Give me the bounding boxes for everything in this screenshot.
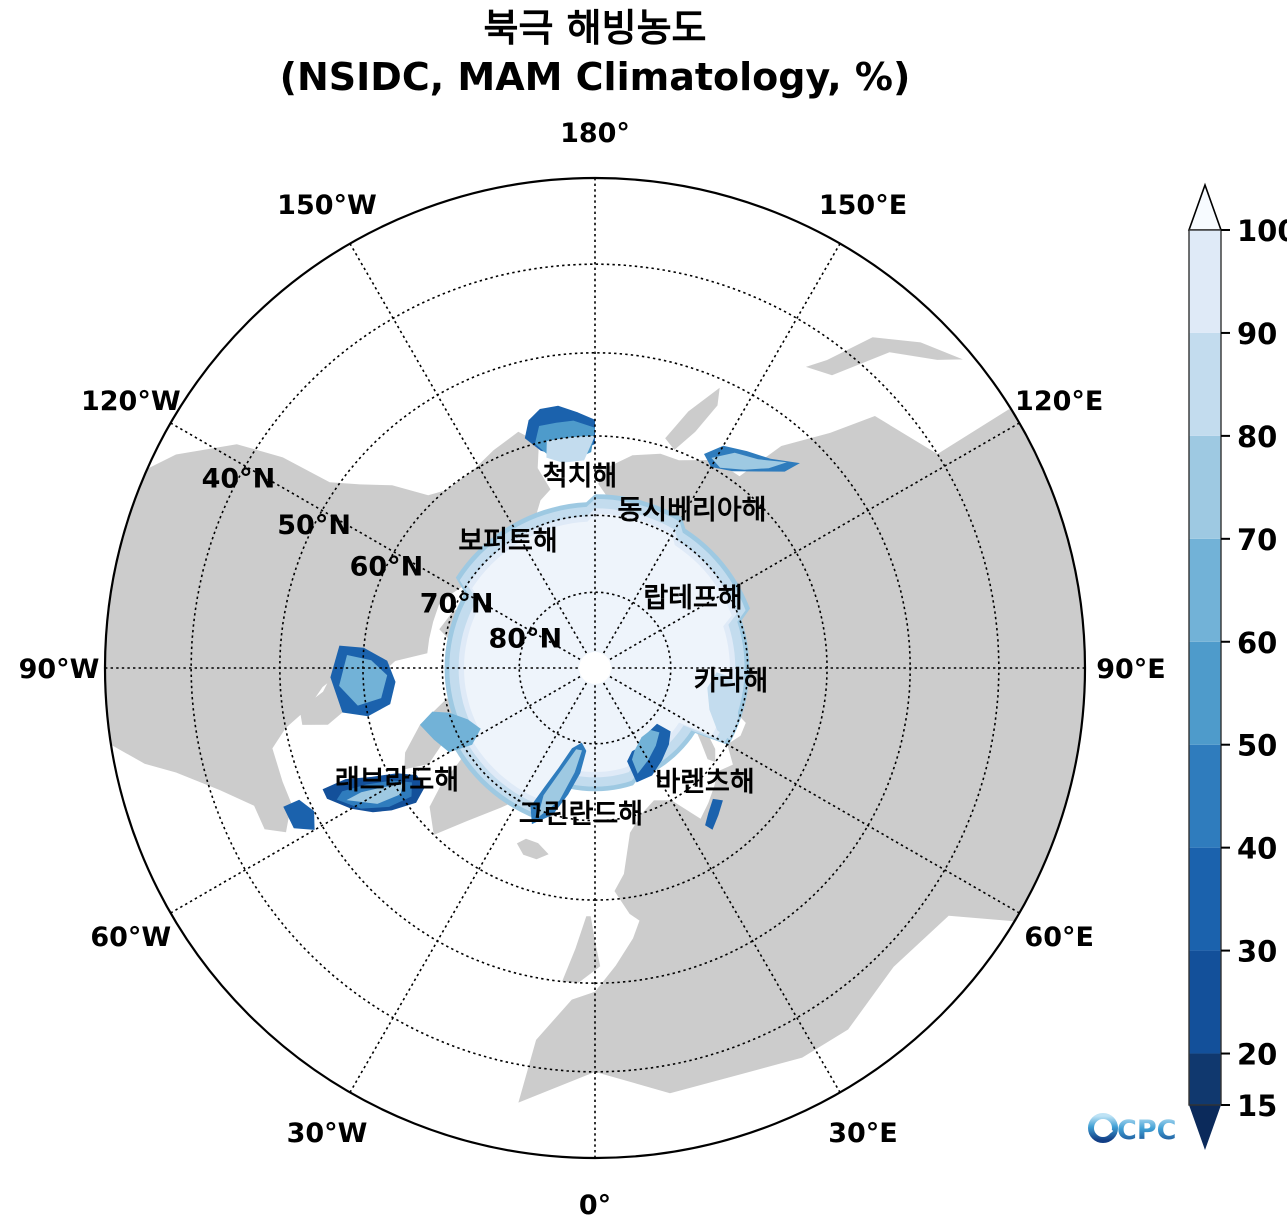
title-line-1: 북극 해빙농도 [0,4,1190,52]
colorbar-tick-label: 70 [1237,523,1277,557]
colorbar-tick-label: 40 [1237,832,1277,866]
latitude-label: 60°N [350,551,424,582]
colorbar-ticks: 152030405060708090100 [1221,214,1287,1123]
longitude-label: 90°E [1096,654,1166,685]
sea-label: 랍테프해 [643,583,742,614]
colorbar-tick-label: 90 [1237,317,1277,351]
longitude-label: 180° [560,118,630,149]
colorbar-tick-label: 30 [1237,935,1277,969]
latitude-label: 80°N [488,623,562,654]
longitude-label: 120°E [1015,386,1103,417]
colorbar-tick-label: 80 [1237,420,1277,454]
map-svg: 180°150°W120°W90°W60°W30°W0°30°E60°E90°E… [0,110,1190,1216]
colorbar-band [1189,642,1221,745]
colorbar-band [1189,333,1221,436]
longitude-label: 60°E [1024,922,1094,953]
colorbar-svg[interactable]: 152030405060708090100 [1185,175,1287,1190]
colorbar-band [1189,436,1221,539]
colorbar-band [1189,539,1221,642]
pole-hole [579,652,611,684]
longitude-label: 0° [579,1190,611,1216]
sea-label: 바렌츠해 [655,767,754,798]
cpc-logo-text: CPC [1117,1115,1176,1146]
sea-label: 그린란드해 [519,799,643,830]
sea-label: 동시베리아해 [617,495,766,526]
colorbar-band [1189,848,1221,951]
colorbar-tick-label: 50 [1237,729,1277,763]
figure-root: 북극 해빙농도 (NSIDC, MAM Climatology, %) 180°… [0,0,1287,1216]
colorbar-band [1189,745,1221,848]
longitude-label: 120°W [81,386,181,417]
colorbar-over-arrow [1189,185,1221,230]
longitude-label: 90°W [19,654,100,685]
colorbar-band [1189,230,1221,333]
colorbar[interactable]: 152030405060708090100 [1185,175,1287,1190]
longitude-label: 150°W [277,190,377,221]
sea-label: 보퍼트해 [458,526,557,557]
colorbar-body[interactable] [1189,185,1221,1150]
cpc-logo-svg: CPC [1088,1106,1184,1150]
longitude-label: 150°E [819,190,907,221]
sea-label: 척치해 [543,461,618,492]
latitude-label: 40°N [202,463,276,494]
longitude-label: 30°W [287,1118,368,1149]
colorbar-tick-label: 20 [1237,1038,1277,1072]
sea-label: 카라해 [694,666,769,697]
longitude-label: 30°E [828,1118,898,1149]
colorbar-tick-label: 100 [1237,214,1287,248]
longitude-label: 60°W [90,922,171,953]
colorbar-band [1189,1054,1221,1105]
colorbar-tick-label: 15 [1237,1089,1277,1123]
colorbar-under-arrow [1189,1105,1221,1150]
colorbar-band [1189,951,1221,1054]
sea-label: 래브라도해 [335,765,459,796]
cpc-logo: CPC [1088,1106,1184,1150]
latitude-label: 70°N [420,589,494,620]
latitude-label: 50°N [277,510,351,541]
title-line-2: (NSIDC, MAM Climatology, %) [0,52,1190,102]
polar-map: 180°150°W120°W90°W60°W30°W0°30°E60°E90°E… [0,110,1190,1216]
figure-title: 북극 해빙농도 (NSIDC, MAM Climatology, %) [0,4,1190,102]
colorbar-tick-label: 60 [1237,626,1277,660]
